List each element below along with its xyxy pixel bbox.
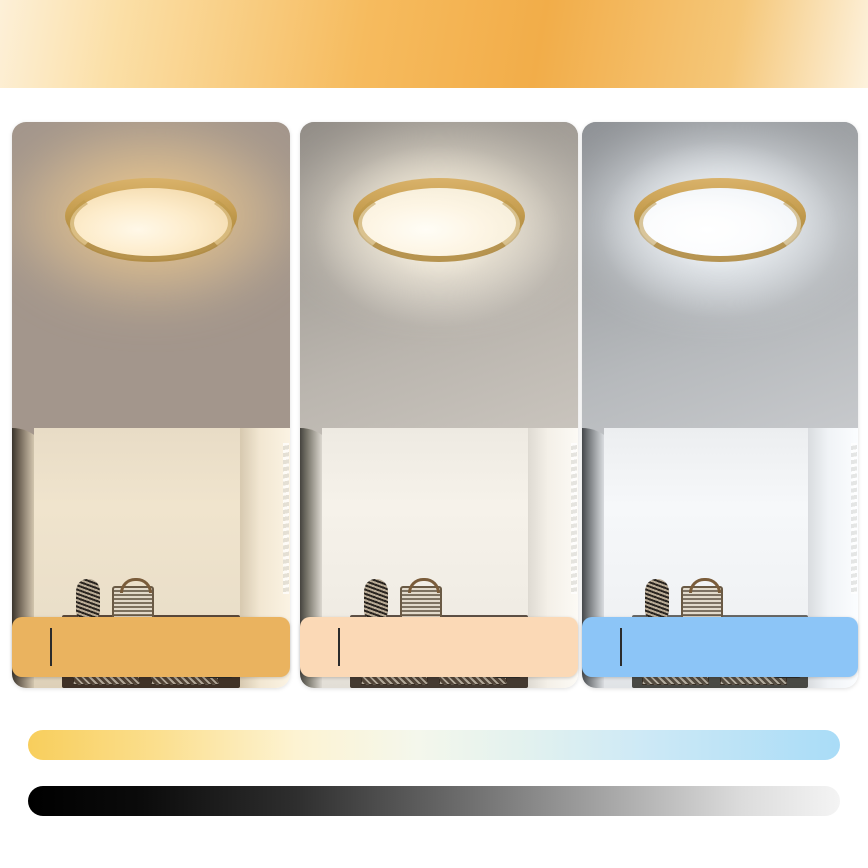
color-temperature-bar[interactable]	[28, 730, 840, 760]
label-divider	[50, 628, 52, 666]
decor-vase	[645, 579, 668, 621]
decor-vase	[364, 579, 388, 621]
ceiling-lamp-neutral	[353, 164, 525, 270]
lamp-body	[353, 164, 525, 270]
label-divider	[620, 628, 622, 666]
lamp-body	[65, 164, 237, 270]
temperature-label-warm	[12, 617, 290, 677]
ceiling-surface-white	[582, 122, 858, 439]
ceiling-lamp-warm	[65, 164, 237, 270]
lamp-rim-front	[356, 184, 522, 262]
decor-basket	[681, 586, 722, 620]
lamp-rim-front	[637, 184, 803, 262]
decor-vase	[76, 579, 100, 621]
decor-basket	[400, 586, 442, 620]
brightness-bar[interactable]	[28, 786, 840, 816]
page-title	[0, 0, 868, 82]
temperature-label-neutral	[300, 617, 578, 677]
decor-basket	[112, 586, 154, 620]
lamp-rim-front	[68, 184, 234, 262]
scene-panel-warm	[12, 122, 290, 688]
temperature-label-white	[582, 617, 858, 677]
label-divider	[338, 628, 340, 666]
ceiling-lamp-white	[634, 164, 806, 270]
ceiling-surface-warm	[12, 122, 290, 439]
scene-panel-white	[582, 122, 858, 688]
header-banner	[0, 0, 868, 88]
ceiling-surface-neutral	[300, 122, 578, 439]
scene-panel-neutral	[300, 122, 578, 688]
lamp-body	[634, 164, 806, 270]
